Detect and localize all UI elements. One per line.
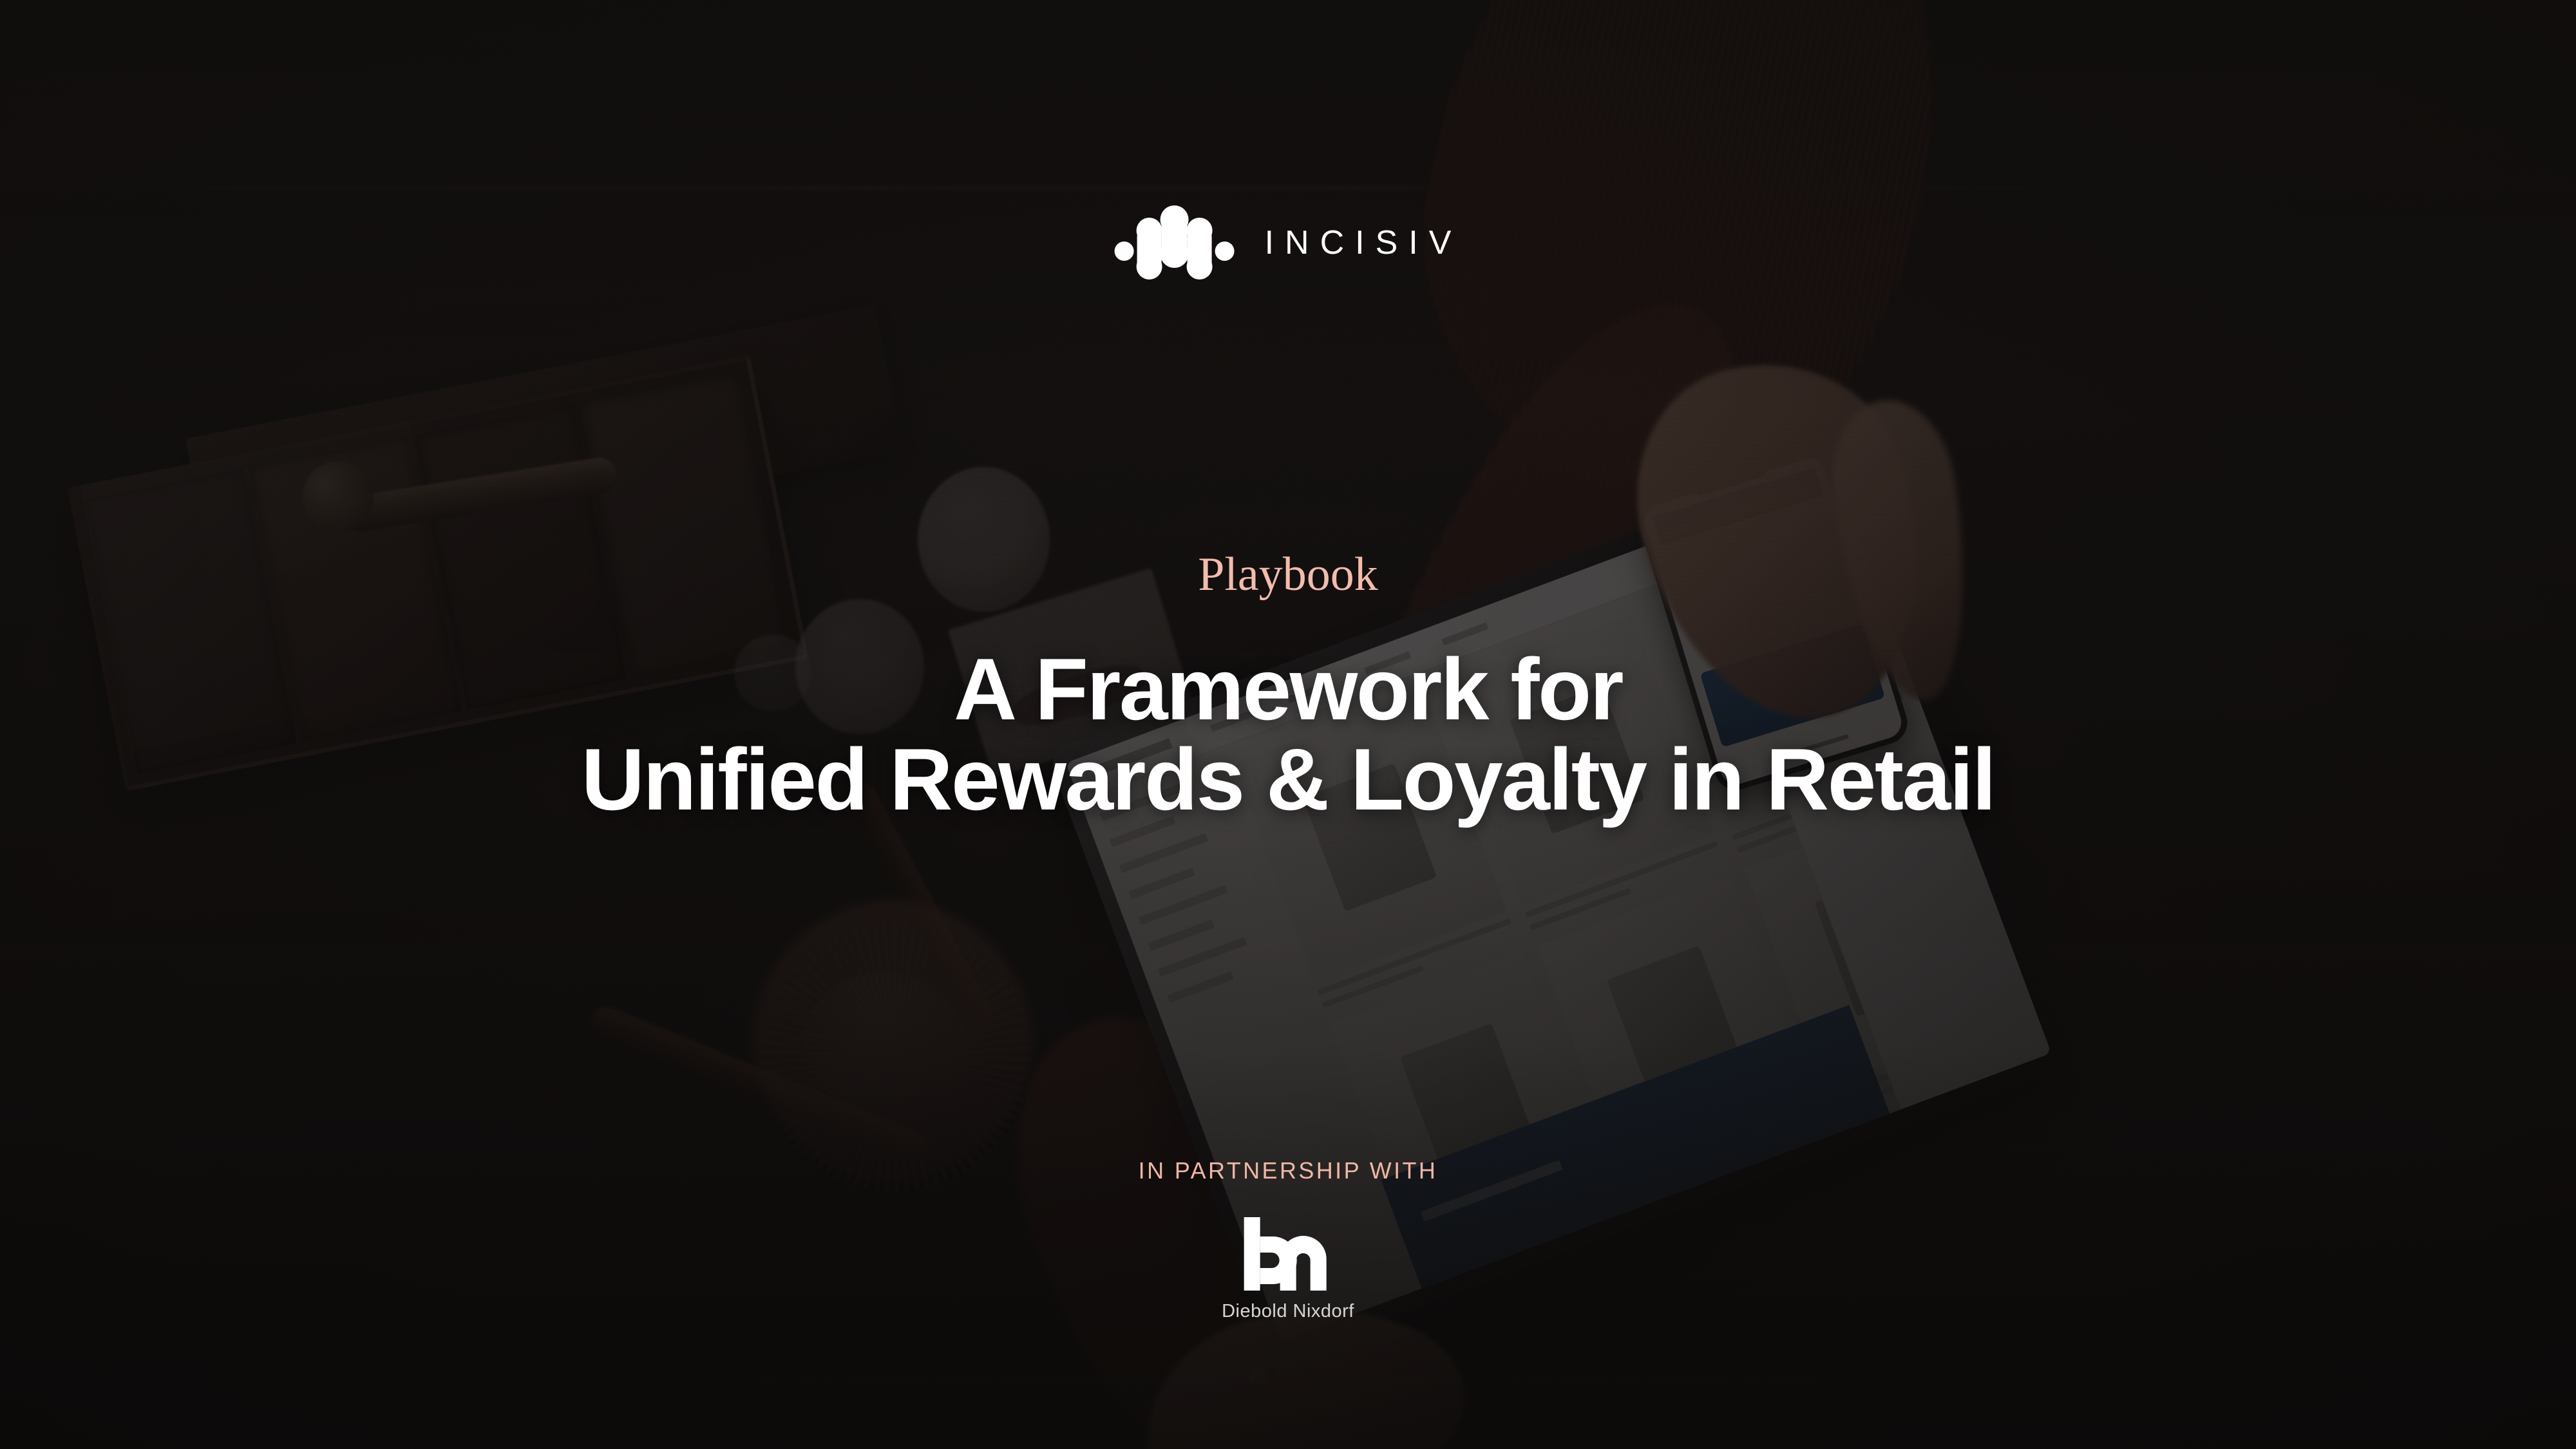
diebold-nixdorf-logo: Diebold Nixdorf (1222, 1213, 1354, 1321)
playbook-eyebrow: Playbook (1198, 551, 1378, 598)
page-title: A Framework for Unified Rewards & Loyalt… (193, 644, 2383, 824)
incisiv-brand-lockup: INCISIV (1114, 205, 1463, 281)
incisiv-wordmark: INCISIV (1265, 226, 1463, 260)
incisiv-node-logo-icon (1114, 205, 1235, 281)
cover-content: INCISIV Playbook A Framework for Unified… (0, 0, 2576, 1449)
page-title-line-2: Unified Rewards & Loyalty in Retail (193, 734, 2383, 824)
diebold-nixdorf-wordmark: Diebold Nixdorf (1222, 1302, 1354, 1321)
playbook-cover-slide: INCISIV Playbook A Framework for Unified… (0, 0, 2576, 1449)
page-title-line-1: A Framework for (193, 644, 2383, 734)
partnership-label: IN PARTNERSHIP WITH (1139, 1159, 1438, 1182)
partnership-block: IN PARTNERSHIP WITH Diebold N (1139, 1159, 1438, 1321)
diebold-nixdorf-dn-monogram-icon (1240, 1213, 1336, 1294)
